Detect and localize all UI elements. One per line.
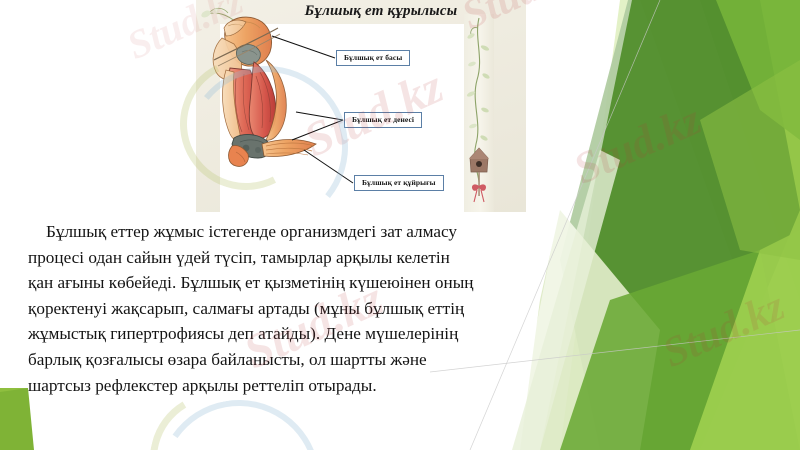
body-line: қан ағыны көбейеді. Бұлшық ет қызметінің…: [28, 270, 638, 296]
watermark-text: Stud.kz: [656, 282, 792, 378]
right-green-light-2: [690, 230, 800, 450]
body-line: барлық қозғалысы өзара байланысты, ол ша…: [28, 347, 638, 373]
callout-muscle-tail[interactable]: Бұлшық ет құйрығы: [354, 175, 444, 191]
callout-muscle-head[interactable]: Бұлшық ет басы: [336, 50, 410, 66]
slide-canvas: Бұлшық ет құрылысы: [0, 0, 800, 450]
body-line: қоректенуі жақсарып, салмағы артады (мұн…: [28, 296, 638, 322]
right-green-mid-1: [716, 0, 800, 140]
body-line: Бұлшық еттер жұмыс істегенде организмдег…: [28, 219, 638, 245]
leader-line-body-2: [292, 120, 343, 140]
callout-muscle-body[interactable]: Бұлшық ет денесі: [344, 112, 422, 128]
watermark-text: Stud.kz: [566, 94, 709, 195]
right-green-light-1: [640, 0, 800, 450]
right-green-light-3: [700, 60, 800, 260]
body-line: жұмыстық гипертрофиясы деп атайды). Дене…: [28, 321, 638, 347]
leader-line-tail: [304, 150, 353, 183]
leader-line-head: [272, 36, 335, 58]
body-line: шартсыз рефлекстер арқылы реттеліп отыра…: [28, 373, 638, 399]
image-panel: Бұлшық ет құрылысы: [196, 0, 526, 212]
body-paragraph: Бұлшық еттер жұмыс істегенде организмдег…: [28, 219, 638, 398]
left-green-wedge: [0, 388, 28, 450]
body-line: процесі одан сайын үдей түсіп, тамырлар …: [28, 245, 638, 271]
leader-line-body: [296, 112, 343, 120]
